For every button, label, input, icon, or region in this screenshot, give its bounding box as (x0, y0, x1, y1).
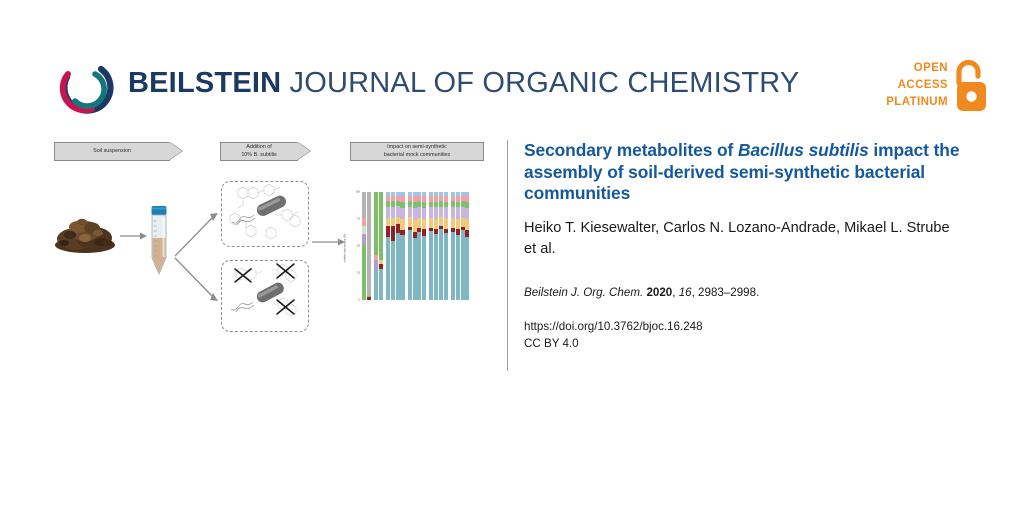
stacked-bar (456, 192, 460, 300)
bar-segment (362, 226, 366, 235)
bar-segment (374, 260, 378, 268)
banner-soil-suspension: Soil suspension (54, 142, 170, 161)
citation-year: 2020 (646, 286, 672, 299)
community-composition-chart: 100 75 50 25 0 relative abundance (%) (348, 192, 490, 309)
bar-segment (439, 217, 443, 226)
bar-segment (374, 192, 378, 255)
bar-segment (465, 219, 469, 230)
bar-group (386, 192, 404, 300)
chart-plot-area (362, 192, 490, 300)
bar-group (451, 192, 469, 300)
bar-group (374, 192, 383, 300)
stacked-bar (465, 192, 469, 300)
banner-impact-label: Impact on semi-synthetic bacterial mock … (384, 144, 451, 159)
bar-segment (386, 237, 390, 300)
boxes-to-chart-arrow-icon (312, 236, 346, 248)
banner-impact-line1: Impact on semi-synthetic (387, 144, 447, 150)
oa-line-platinum: PLATINUM (886, 94, 948, 111)
bar-segment (396, 233, 400, 300)
bar-group (408, 192, 426, 300)
bar-segment (417, 218, 421, 228)
bar-segment (461, 230, 465, 300)
bar-segment (396, 217, 400, 225)
banner-addition-line2: 10% B. subtilis (241, 152, 276, 158)
cross-out-marks-icon (235, 264, 294, 314)
soil-to-tube-arrow-icon (120, 230, 148, 242)
y-tick-100: 100 (356, 191, 360, 194)
banner-impact-line2: bacterial mock communities (384, 152, 451, 158)
open-access-label: OPEN ACCESS PLATINUM (886, 60, 948, 111)
open-access-badge: OPEN ACCESS PLATINUM (884, 58, 990, 118)
license-label: CC BY 4.0 (524, 337, 579, 350)
bar-segment (408, 207, 412, 217)
soil-pile-icon (52, 214, 118, 254)
bar-segment (439, 229, 443, 300)
doi-link[interactable]: https://doi.org/10.3762/bjoc.16.248 (524, 320, 703, 333)
bar-segment (456, 235, 460, 300)
bar-segment (391, 241, 395, 300)
bar-segment (408, 217, 412, 227)
stacked-bar (408, 192, 412, 300)
bar-segment (439, 207, 443, 217)
bar-segment (374, 268, 378, 300)
stacked-bar (451, 192, 455, 300)
bar-segment (362, 192, 366, 218)
vertical-divider (507, 140, 508, 371)
bar-segment (456, 219, 460, 229)
bar-segment (386, 226, 390, 238)
y-tick-50: 50 (357, 245, 360, 248)
bar-segment (417, 232, 421, 300)
graphical-abstract: Soil suspension Addition of 10% B. subti… (36, 132, 498, 372)
banner-impact: Impact on semi-synthetic bacterial mock … (350, 142, 484, 161)
bar-segment (413, 208, 417, 220)
y-tick-75: 75 (357, 218, 360, 221)
title-part-1: Secondary metabolites of (524, 140, 738, 160)
bar-segment (429, 218, 433, 228)
bar-segment (386, 207, 390, 219)
y-tick-25: 25 (357, 272, 360, 275)
paper-title: Secondary metabolites of Bacillus subtil… (524, 140, 964, 205)
bar-segment (391, 218, 395, 226)
banner-addition-line1: Addition of (246, 144, 271, 150)
bar-segment (362, 244, 366, 300)
stacked-bar (429, 192, 433, 300)
citation-line: Beilstein J. Org. Chem. 2020, 16, 2983–2… (524, 285, 964, 301)
centrifuge-tube-icon (148, 206, 170, 278)
stacked-bar (391, 192, 395, 300)
stacked-bar (374, 192, 378, 300)
citation-journal: Beilstein J. Org. Chem. (524, 286, 643, 299)
chart-y-axis-label: relative abundance (%) (342, 234, 346, 263)
article-metadata: Secondary metabolites of Bacillus subtil… (524, 140, 964, 353)
open-lock-icon (952, 58, 990, 114)
bar-segment (362, 218, 366, 226)
bar-segment (429, 207, 433, 218)
banner-addition-label: Addition of 10% B. subtilis (241, 144, 276, 159)
bar-segment (465, 237, 469, 300)
bar-segment (391, 226, 395, 241)
author-list: Heiko T. Kiesewalter, Carlos N. Lozano-A… (524, 218, 964, 260)
wordmark-beilstein: BEILSTEIN (128, 67, 281, 99)
stacked-bar (434, 192, 438, 300)
bar-segment (451, 218, 455, 228)
oa-line-access: ACCESS (886, 77, 948, 94)
bar-segment (391, 207, 395, 218)
mutant-bacterium-box (221, 260, 309, 332)
bar-segment (396, 224, 400, 233)
y-tick-0: 0 (359, 299, 360, 302)
bacterium-without-metabolites-icon (222, 261, 308, 331)
stacked-bar (396, 192, 400, 300)
citation-pages: 2983–2998. (698, 286, 759, 299)
bar-segment (451, 207, 455, 218)
tube-branch-arrows-icon (174, 196, 222, 316)
stacked-bar (362, 192, 366, 300)
citation-volume: 16 (679, 286, 692, 299)
bar-segment (417, 207, 421, 218)
bar-segment (396, 206, 400, 217)
bar-segment (429, 231, 433, 300)
bar-segment (456, 207, 460, 219)
bar-segment (451, 232, 455, 300)
title-species-name: Bacillus subtilis (738, 140, 869, 160)
bar-segment (465, 230, 469, 238)
stacked-bar (386, 192, 390, 300)
bar-group (429, 192, 447, 300)
bar-segment (434, 207, 438, 219)
bar-segment (461, 207, 465, 218)
bar-group (362, 192, 371, 300)
bar-segment (434, 234, 438, 300)
stacked-bar (417, 192, 421, 300)
chart-y-axis: 100 75 50 25 0 relative abundance (%) (348, 192, 361, 300)
beilstein-spiral-logo-icon (54, 57, 116, 119)
page-header: BEILSTEIN JOURNAL OF ORGANIC CHEMISTRY O… (0, 0, 1024, 128)
bar-segment (413, 220, 417, 232)
bar-segment (434, 219, 438, 229)
bar-segment (413, 238, 417, 300)
banner-addition: Addition of 10% B. subtilis (220, 142, 298, 161)
stacked-bar (439, 192, 443, 300)
doi-and-license: https://doi.org/10.3762/bjoc.16.248 CC B… (524, 318, 964, 353)
stacked-bar (413, 192, 417, 300)
stacked-bar (461, 192, 465, 300)
bacterium-with-metabolites-icon (222, 182, 308, 246)
wildtype-bacterium-box (221, 181, 309, 247)
bar-segment (465, 208, 469, 219)
journal-wordmark: BEILSTEIN JOURNAL OF ORGANIC CHEMISTRY (128, 69, 799, 98)
bar-segment (461, 218, 465, 227)
bar-segment (362, 234, 366, 244)
bar-segment (408, 230, 412, 300)
banner-soil-label: Soil suspension (93, 148, 131, 156)
oa-line-open: OPEN (886, 60, 948, 77)
wordmark-subtitle: JOURNAL OF ORGANIC CHEMISTRY (290, 67, 800, 99)
